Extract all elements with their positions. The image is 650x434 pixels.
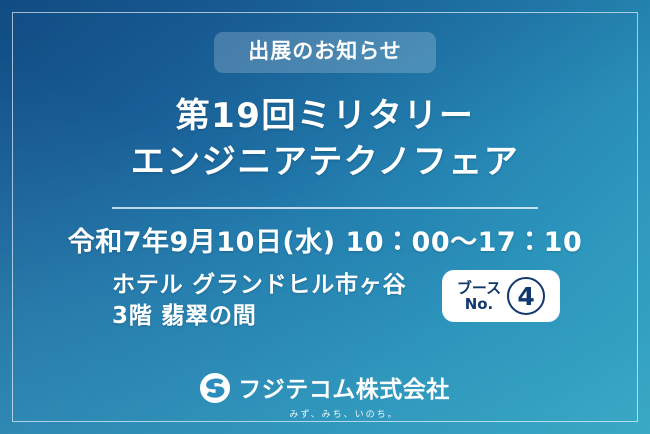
page-title-line-2: エンジニアテクノフェア [131,139,519,185]
event-datetime: 令和7年9月10日(水) 10：00〜17：10 [68,229,583,256]
booth-number-badge: ブース No. 4 [442,270,560,322]
booth-label-line-2: No. [457,296,501,313]
event-venue-line-1: ホテル グランドヒル市ヶ谷 [112,270,406,301]
page-title-line-1: 第19回ミリタリー [131,93,519,139]
event-venue: ホテル グランドヒル市ヶ谷 3階 翡翠の間 [112,270,406,332]
booth-label: ブース No. [457,280,501,314]
page-title: 第19回ミリタリー エンジニアテクノフェア [131,93,519,185]
poster-content: 出展のお知らせ 第19回ミリタリー エンジニアテクノフェア 令和7年9月10日(… [0,0,650,434]
booth-label-line-1: ブース [457,280,501,297]
event-announcement-poster: 出展のお知らせ 第19回ミリタリー エンジニアテクノフェア 令和7年9月10日(… [0,0,650,434]
venue-row: ホテル グランドヒル市ヶ谷 3階 翡翠の間 ブース No. 4 [0,270,650,332]
notice-badge: 出展のお知らせ [214,32,436,73]
event-venue-line-2: 3階 翡翠の間 [112,301,406,332]
divider [112,207,538,209]
booth-number-circle: 4 [507,277,545,315]
